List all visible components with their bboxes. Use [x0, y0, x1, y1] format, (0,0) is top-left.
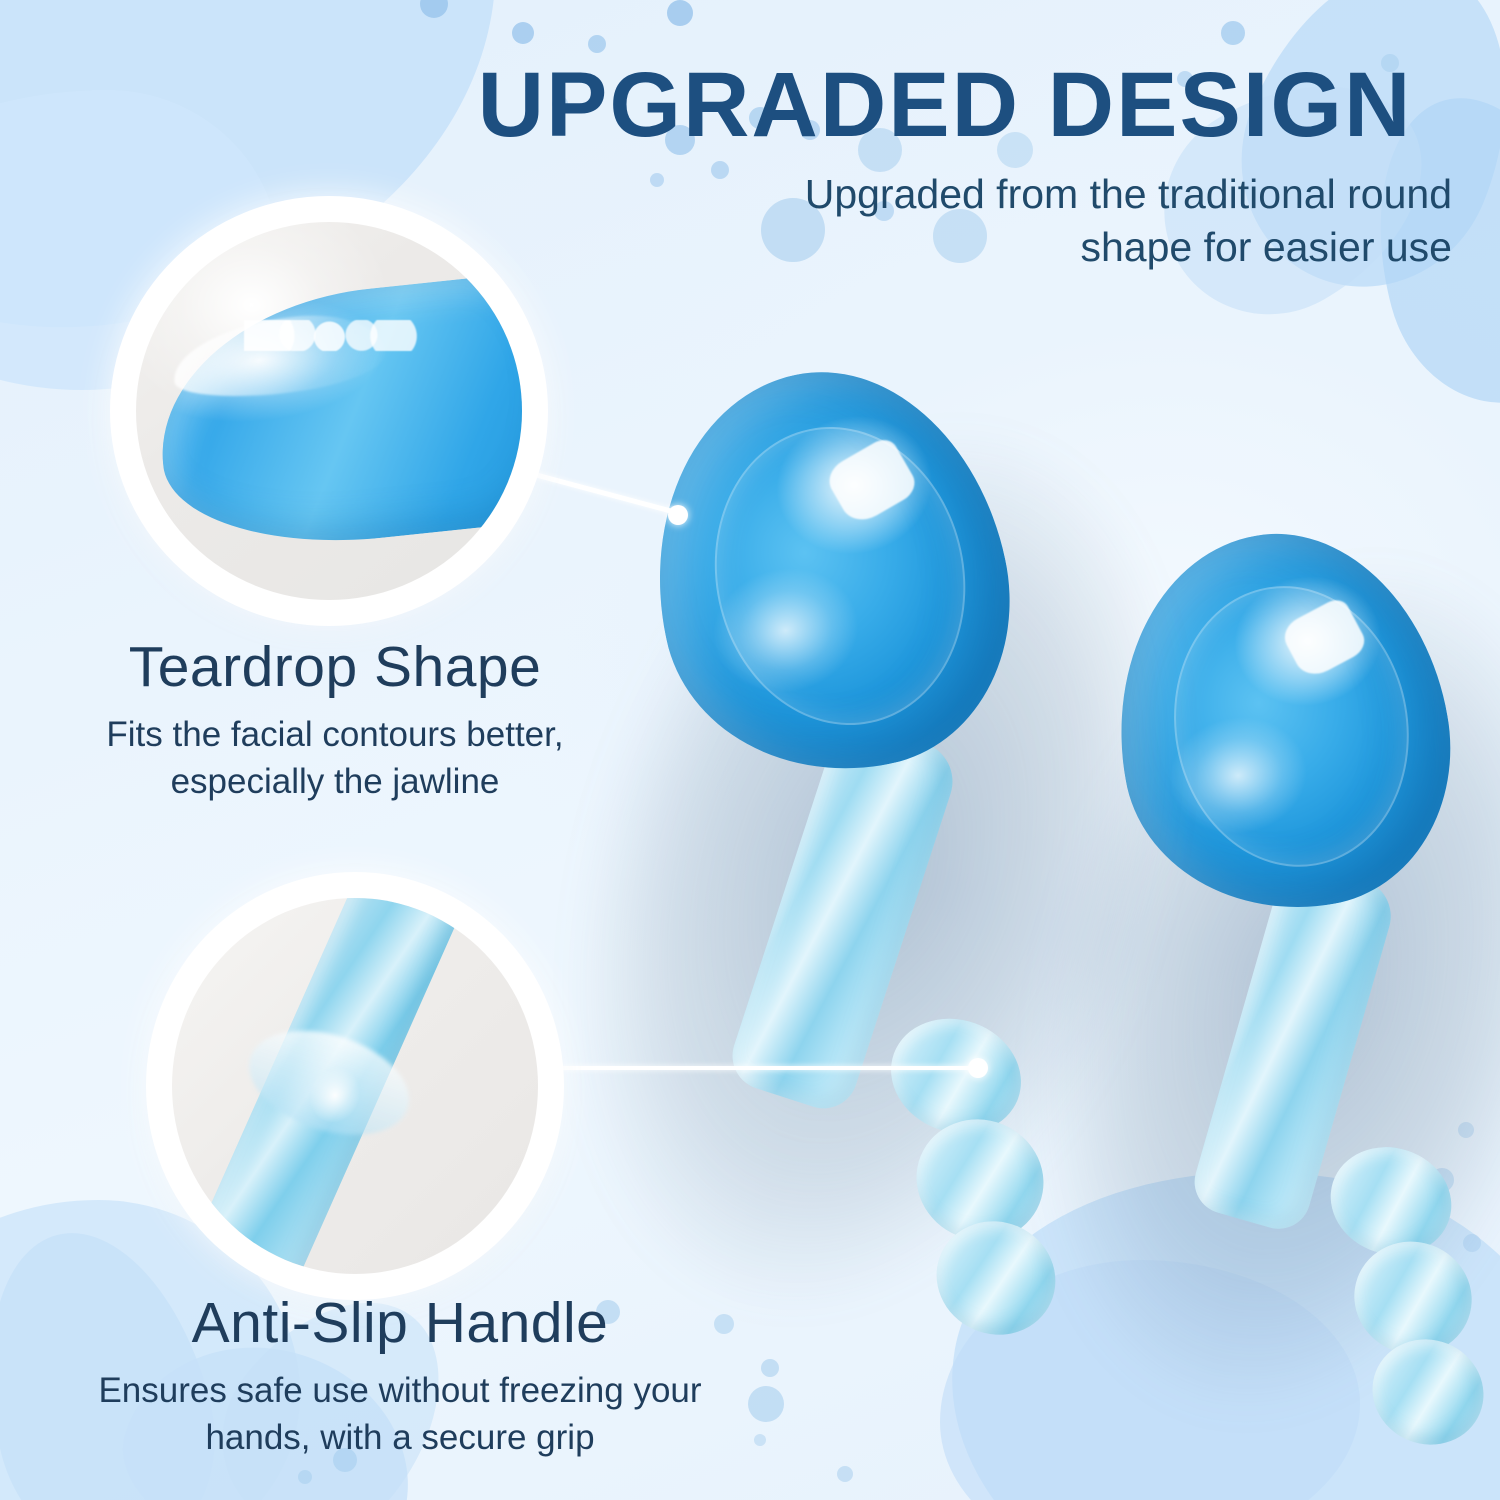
background-blob-bottom-right [914, 1118, 1500, 1500]
bubble-dot [298, 1470, 312, 1484]
leader-line-handle [548, 1066, 978, 1070]
ice-globe-back-bulb [1088, 508, 1476, 935]
bubble-dot [837, 1466, 853, 1482]
feature-teardrop-body: Fits the facial contours better, especia… [30, 712, 640, 806]
inset-teardrop-image [136, 222, 522, 600]
bubble-dot [754, 1434, 766, 1446]
feature-handle-body-line-1: Ensures safe use without freezing your [98, 1371, 701, 1410]
handle-macro-photo [172, 898, 538, 1274]
page-title: UPGRADED DESIGN [430, 58, 1460, 154]
ice-globe-front-bulb [618, 340, 1042, 804]
inset-anti-slip-handle [160, 886, 550, 1286]
ice-globe-front-knot-2 [898, 1100, 1062, 1259]
feature-teardrop-body-line-1: Fits the facial contours better, [106, 715, 563, 754]
background-blob-bottom-right-2 [940, 1260, 1360, 1500]
teardrop-macro-photo [136, 222, 522, 600]
bubble-dot [588, 35, 606, 53]
leader-line-teardrop [526, 470, 682, 516]
feature-handle-heading: Anti-Slip Handle [50, 1292, 750, 1356]
bubble-dot [1439, 1307, 1457, 1325]
page-subtitle-line-2: shape for easier use [430, 221, 1452, 274]
bubble-dot [748, 1386, 784, 1422]
ice-globe-front-shadow [471, 355, 1282, 1384]
teardrop-macro-bubbles [244, 320, 422, 350]
bubble-dot [1463, 1234, 1481, 1252]
feature-teardrop-body-line-2: especially the jawline [171, 762, 500, 801]
bubble-dot [1458, 1122, 1474, 1138]
ice-globe-back-knot-2 [1338, 1225, 1487, 1371]
page-subtitle: Upgraded from the traditional round shap… [430, 168, 1460, 275]
ice-globe-back-knot-3 [1357, 1323, 1500, 1461]
bubble-dot [667, 0, 693, 26]
inset-handle-image [172, 898, 538, 1274]
header-block: UPGRADED DESIGN Upgraded from the tradit… [430, 58, 1460, 274]
bubble-dot [1221, 21, 1245, 45]
ice-globe-front-knot-3 [918, 1202, 1073, 1353]
feature-handle-body-line-2: hands, with a secure grip [205, 1418, 594, 1457]
bubble-dot [1430, 1168, 1454, 1192]
ice-globe-front-knot-1 [875, 1001, 1037, 1151]
teardrop-macro-bulb [147, 269, 522, 560]
handle-macro-shaft [176, 898, 469, 1274]
bubble-dot [420, 0, 448, 18]
leader-dot-teardrop [668, 505, 688, 525]
infographic-canvas: UPGRADED DESIGN Upgraded from the tradit… [0, 0, 1500, 1500]
ice-globe-back-shadow [954, 510, 1500, 1470]
feature-teardrop-shape: Teardrop Shape Fits the facial contours … [30, 636, 640, 806]
ice-globe-back-knot-1 [1317, 1132, 1466, 1271]
ice-globe-front-handle [724, 716, 963, 1117]
ice-globe-back-handle [1187, 858, 1400, 1237]
leader-dot-handle [968, 1058, 988, 1078]
feature-anti-slip-handle: Anti-Slip Handle Ensures safe use withou… [50, 1292, 750, 1462]
page-subtitle-line-1: Upgraded from the traditional round [430, 168, 1452, 221]
feature-handle-body: Ensures safe use without freezing your h… [50, 1368, 750, 1462]
bubble-dot [512, 22, 534, 44]
feature-teardrop-heading: Teardrop Shape [30, 636, 640, 700]
bubble-dot [761, 1359, 779, 1377]
